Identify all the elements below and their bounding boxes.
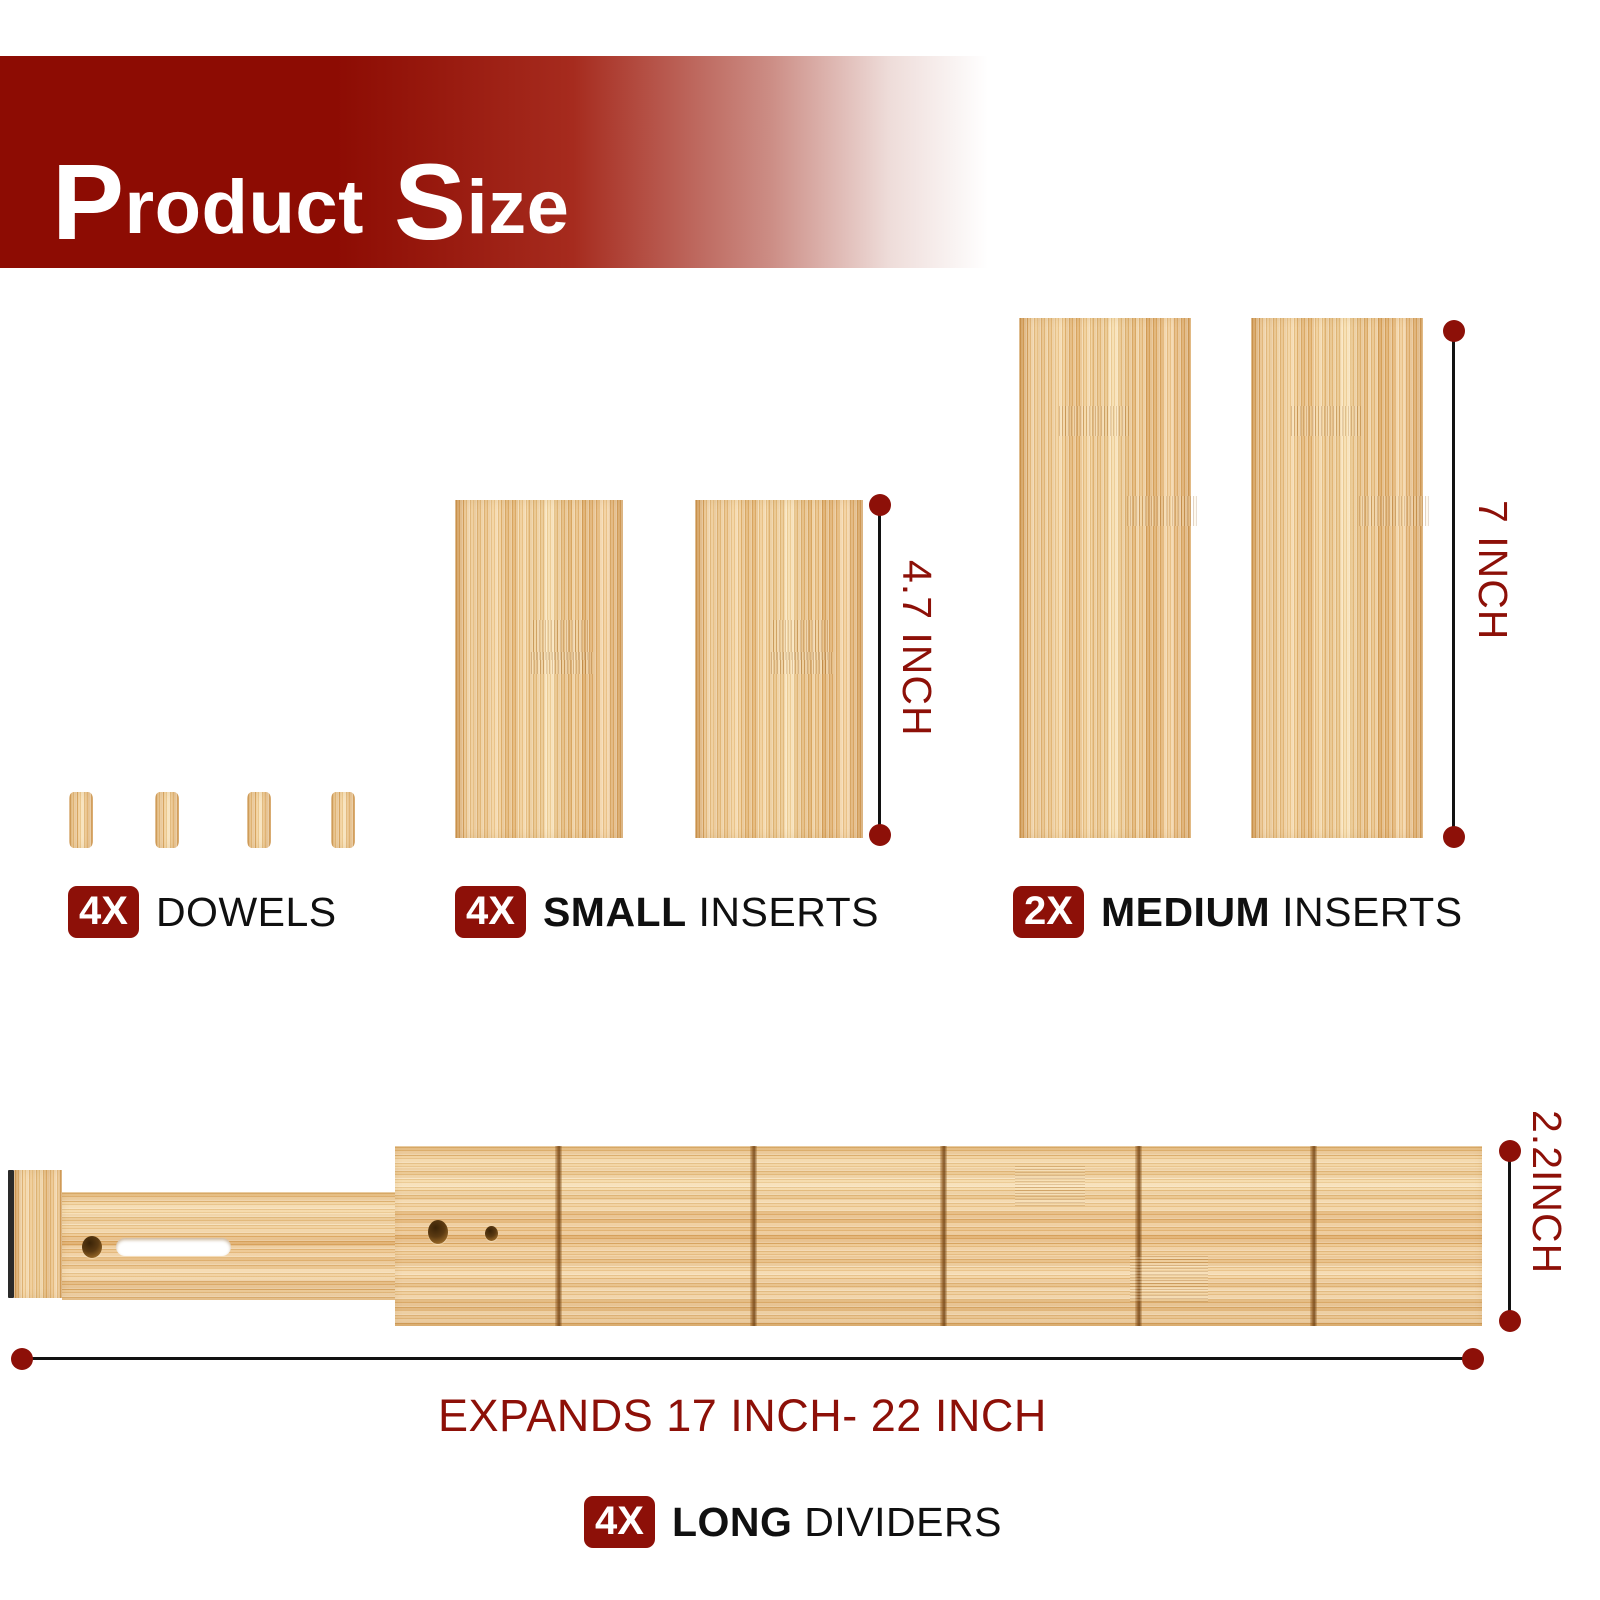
medium-insert-1 [1019, 318, 1191, 838]
divider-board-hole-1 [428, 1220, 448, 1244]
dimension-dot-medium-top [1443, 320, 1465, 342]
divider-sliding-arm [62, 1192, 407, 1300]
dowel-3 [247, 792, 271, 848]
label-medium-inserts: 2X MEDIUM INSERTS [1013, 886, 1463, 938]
dimension-line-medium [1452, 330, 1455, 838]
divider-arm-hole [82, 1236, 102, 1258]
header-banner: ProductSize [0, 56, 988, 268]
dimension-label-divider-width: EXPANDS 17 INCH- 22 INCH [438, 1390, 1047, 1442]
badge-small-inserts: 4X [455, 886, 526, 938]
dimension-line-divider-width [22, 1357, 1482, 1360]
divider-arm-slot [116, 1238, 231, 1256]
label-small-bold: SMALL [543, 889, 687, 935]
divider-node-1 [1015, 1166, 1085, 1206]
label-small-inserts-text: SMALL INSERTS [543, 892, 879, 933]
label-long-rest: DIVIDERS [792, 1499, 1002, 1545]
dimension-line-divider-height [1508, 1150, 1511, 1320]
divider-seam-3 [940, 1146, 947, 1326]
divider-main-board [395, 1146, 1482, 1326]
divider-seam-2 [750, 1146, 757, 1326]
divider-seam-5 [1310, 1146, 1317, 1326]
small-insert-2 [695, 500, 863, 838]
label-dowels: 4X DOWELS [68, 886, 337, 938]
label-medium-bold: MEDIUM [1101, 889, 1270, 935]
dowel-1 [69, 792, 93, 848]
divider-seam-4 [1135, 1146, 1142, 1326]
badge-dowels: 4X [68, 886, 139, 938]
label-long-bold: LONG [672, 1499, 792, 1545]
label-small-rest: INSERTS [687, 889, 879, 935]
title-cap-s: S [394, 141, 467, 262]
dowel-2 [155, 792, 179, 848]
title-cap-p: P [52, 141, 125, 262]
title-rest-roduct: roduct [125, 165, 364, 250]
label-small-inserts: 4X SMALL INSERTS [455, 886, 879, 938]
label-medium-inserts-text: MEDIUM INSERTS [1101, 892, 1463, 933]
title-rest-ize: ize [467, 165, 570, 250]
dimension-label-medium: 7 INCH [1469, 500, 1516, 640]
label-dowels-text: DOWELS [156, 892, 337, 933]
medium-insert-2 [1251, 318, 1423, 838]
dimension-label-small: 4.7 INCH [893, 560, 940, 737]
dimension-dot-width-left [11, 1348, 33, 1370]
divider-end-block [14, 1170, 62, 1298]
dimension-dot-medium-bottom [1443, 826, 1465, 848]
small-insert-1 [455, 500, 623, 838]
dimension-dot-width-right [1462, 1348, 1484, 1370]
dimension-dot-small-bottom [869, 824, 891, 846]
dowel-4 [331, 792, 355, 848]
label-long-dividers: 4X LONG DIVIDERS [584, 1496, 1002, 1548]
badge-long-dividers: 4X [584, 1496, 655, 1548]
label-medium-rest: INSERTS [1270, 889, 1462, 935]
dimension-line-small [878, 505, 881, 835]
dimension-dot-divider-bottom [1499, 1310, 1521, 1332]
page-title: ProductSize [52, 148, 569, 256]
divider-board-hole-2 [485, 1226, 498, 1241]
label-long-dividers-text: LONG DIVIDERS [672, 1502, 1002, 1543]
divider-seam-1 [555, 1146, 562, 1326]
dimension-dot-small-top [869, 494, 891, 516]
dimension-dot-divider-top [1499, 1140, 1521, 1162]
dimension-label-divider-height: 2.2INCH [1523, 1110, 1570, 1274]
badge-medium-inserts: 2X [1013, 886, 1084, 938]
